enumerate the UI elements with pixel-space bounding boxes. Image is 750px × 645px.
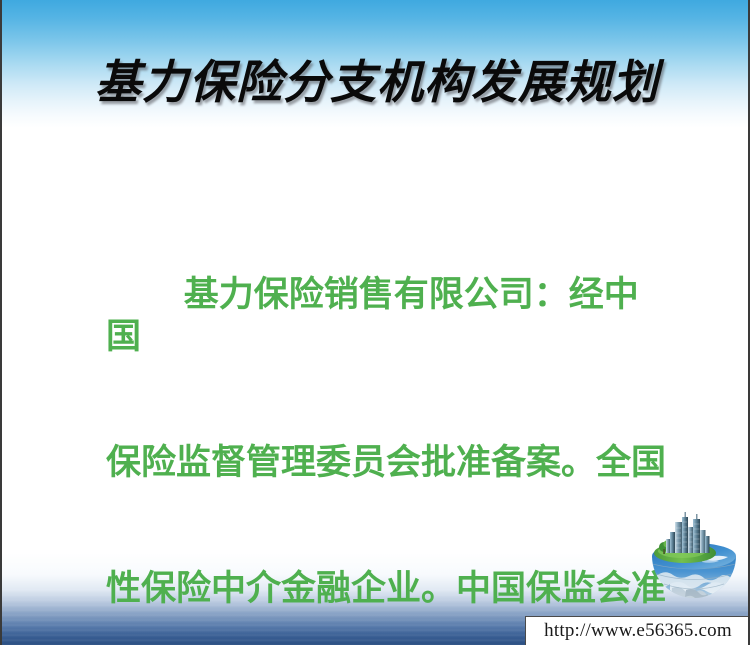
earth-city-globe-icon (642, 508, 746, 612)
slide-body-text: 基力保险销售有限公司：经中国 保险监督管理委员会批准备案。全国 性保险中介金融企… (106, 190, 666, 645)
watermark-url-box: http://www.e56365.com (525, 616, 750, 645)
slide-canvas: 基力保险分支机构发展规划 基力保险销售有限公司：经中国 保险监督管理委员会批准备… (0, 0, 750, 645)
slide-title: 基力保险分支机构发展规划 (2, 54, 750, 112)
body-line-3: 性保险中介金融企业。中国保监会准 (106, 568, 666, 610)
body-line-1: 基力保险销售有限公司：经中国 (106, 274, 666, 358)
body-line-2: 保险监督管理委员会批准备案。全国 (106, 442, 666, 484)
watermark-url-text: http://www.e56365.com (544, 620, 732, 642)
